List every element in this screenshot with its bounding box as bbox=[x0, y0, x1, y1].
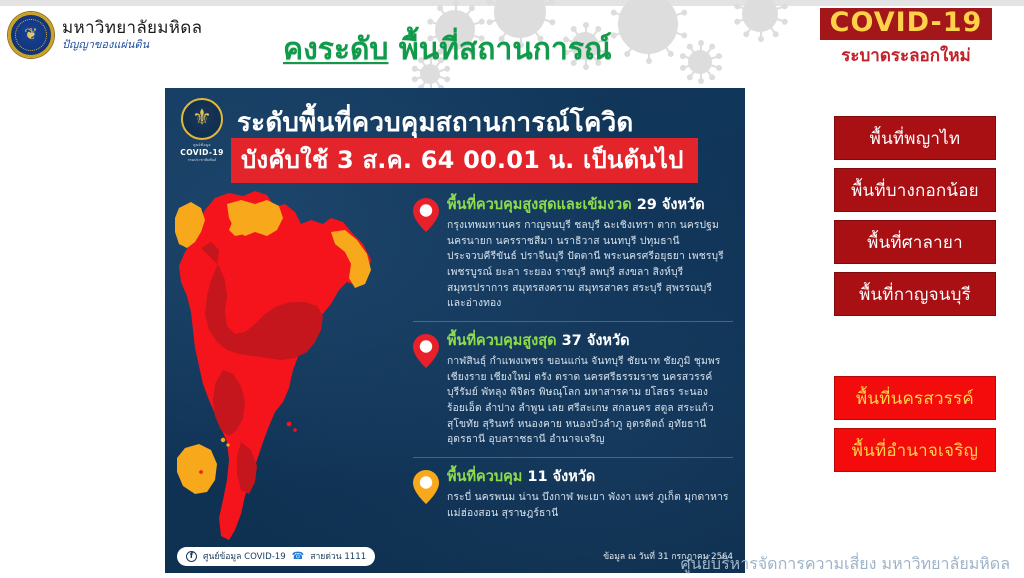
map-island-1 bbox=[221, 438, 225, 442]
phone-icon: ☎ bbox=[292, 551, 304, 562]
legend-title-0: พื้นที่ควบคุมสูงสุดและเข้มงวด 29 จังหวัด bbox=[447, 196, 733, 214]
page-title-underlined: คงระดับ bbox=[283, 32, 388, 67]
infographic-heading: ระดับพื้นที่ควบคุมสถานการณ์โควิด bbox=[237, 102, 735, 143]
map-island-4 bbox=[293, 428, 297, 432]
legend-divider-1 bbox=[413, 321, 733, 322]
thailand-map bbox=[171, 174, 401, 569]
garuda-emblem-icon bbox=[181, 98, 223, 140]
coronavirus-icon bbox=[608, 0, 688, 64]
footer-hotline: สายด่วน 1111 bbox=[310, 549, 366, 563]
mahidol-seal-icon: ❦ bbox=[8, 12, 54, 58]
covid-badge: COVID-19 ระบาดระลอกใหม่ bbox=[806, 8, 1006, 69]
sidebar-button-label-2: พื้นที่ศาลายา bbox=[867, 229, 963, 256]
org-name: มหาวิทยาลัยมหิดล bbox=[62, 19, 202, 38]
map-pin-icon-yellow bbox=[413, 470, 439, 504]
org-motto: ปัญญาของแผ่นดิน bbox=[62, 38, 202, 51]
sidebar-button-label-4: พื้นที่นครสวรรค์ bbox=[856, 385, 974, 412]
legend-provinces-0: กรุงเทพมหานคร กาญจนบุรี ชลบุรี ฉะเชิงเทร… bbox=[447, 218, 733, 312]
sidebar-button-salaya[interactable]: พื้นที่ศาลายา bbox=[834, 220, 996, 264]
page-title: คงระดับ พื้นที่สถานการณ์ bbox=[283, 26, 612, 73]
footer-contact-pill: f ศูนย์ข้อมูล COVID-19 ☎ สายด่วน 1111 bbox=[177, 547, 375, 566]
legend-title-1: พื้นที่ควบคุมสูงสุด 37 จังหวัด bbox=[447, 332, 733, 350]
seal-line-2: COVID-19 bbox=[179, 148, 225, 157]
legend-item-0: พื้นที่ควบคุมสูงสุดและเข้มงวด 29 จังหวัด… bbox=[413, 196, 733, 312]
legend-level-2: พื้นที่ควบคุม bbox=[447, 469, 522, 485]
legend-divider-2 bbox=[413, 457, 733, 458]
facebook-icon: f bbox=[186, 551, 197, 562]
page-title-rest: พื้นที่สถานการณ์ bbox=[399, 32, 612, 67]
sidebar-button-label-0: พื้นที่พญาไท bbox=[870, 125, 961, 152]
legend-provinces-2: กระบี่ นครพนม น่าน บึงกาฬ พะเยา พังงา แพ… bbox=[447, 490, 733, 521]
sidebar-button-amnatcharoen[interactable]: พื้นที่อำนาจเจริญ bbox=[834, 428, 996, 472]
covid-badge-title: COVID-19 bbox=[820, 8, 993, 40]
legend-item-1: พื้นที่ควบคุมสูงสุด 37 จังหวัด กาฬสินธุ์… bbox=[413, 332, 733, 448]
legend-item-2: พื้นที่ควบคุม 11 จังหวัด กระบี่ นครพนม น… bbox=[413, 468, 733, 521]
legend-count-0: 29 จังหวัด bbox=[637, 197, 705, 213]
map-island-5 bbox=[199, 470, 203, 474]
legend-title-2: พื้นที่ควบคุม 11 จังหวัด bbox=[447, 468, 733, 486]
coronavirus-icon bbox=[732, 0, 788, 42]
legend-count-1: 37 จังหวัด bbox=[562, 333, 630, 349]
map-pin-icon-red bbox=[413, 198, 439, 232]
seal-line-3: กรมประชาสัมพันธ์ bbox=[179, 157, 225, 163]
infographic-footer: f ศูนย์ข้อมูล COVID-19 ☎ สายด่วน 1111 ข้… bbox=[165, 539, 745, 573]
mahidol-logo: ❦ มหาวิทยาลัยมหิดล ปัญญาของแผ่นดิน bbox=[8, 12, 202, 58]
sidebar-button-nakhonsawan[interactable]: พื้นที่นครสวรรค์ bbox=[834, 376, 996, 420]
legend-count-2: 11 จังหวัด bbox=[527, 469, 595, 485]
dprk-seal: ศูนย์ข้อมูล COVID-19 กรมประชาสัมพันธ์ bbox=[179, 98, 225, 163]
sidebar-button-kanchanaburi[interactable]: พื้นที่กาญจนบุรี bbox=[834, 272, 996, 316]
legend-provinces-1: กาฬสินธุ์ กำแพงเพชร ขอนแก่น จันทบุรี ชัย… bbox=[447, 354, 733, 448]
sidebar-area-buttons-primary: พื้นที่พญาไท พื้นที่บางกอกน้อย พื้นที่ศา… bbox=[834, 116, 996, 324]
legend: พื้นที่ควบคุมสูงสุดและเข้มงวด 29 จังหวัด… bbox=[413, 196, 733, 521]
sidebar-button-label-5: พื้นที่อำนาจเจริญ bbox=[852, 437, 979, 464]
map-island-3 bbox=[287, 422, 292, 427]
sidebar-button-phayathai[interactable]: พื้นที่พญาไท bbox=[834, 116, 996, 160]
sidebar-button-label-1: พื้นที่บางกอกน้อย bbox=[851, 177, 979, 204]
legend-level-0: พื้นที่ควบคุมสูงสุดและเข้มงวด bbox=[447, 197, 632, 213]
sidebar-area-buttons-secondary: พื้นที่นครสวรรค์ พื้นที่อำนาจเจริญ bbox=[834, 376, 996, 480]
infographic-header: ศูนย์ข้อมูล COVID-19 กรมประชาสัมพันธ์ ระ… bbox=[165, 88, 745, 170]
legend-level-1: พื้นที่ควบคุมสูงสุด bbox=[447, 333, 557, 349]
footer-source: ศูนย์ข้อมูล COVID-19 bbox=[203, 549, 286, 563]
map-island-2 bbox=[226, 443, 229, 446]
coronavirus-icon bbox=[678, 40, 722, 84]
map-pin-icon-red-2 bbox=[413, 334, 439, 368]
sidebar-button-label-3: พื้นที่กาญจนบุรี bbox=[859, 281, 971, 308]
sidebar-button-bangkoknoi[interactable]: พื้นที่บางกอกน้อย bbox=[834, 168, 996, 212]
covid-badge-subtitle: ระบาดระลอกใหม่ bbox=[806, 42, 1006, 69]
map-region-orange-southpeninsula bbox=[177, 444, 217, 494]
page-footer-text: ศูนย์บริหารจัดการความเสี่ยง มหาวิทยาลัยม… bbox=[680, 552, 1010, 577]
infographic-card: ศูนย์ข้อมูล COVID-19 กรมประชาสัมพันธ์ ระ… bbox=[165, 88, 745, 573]
